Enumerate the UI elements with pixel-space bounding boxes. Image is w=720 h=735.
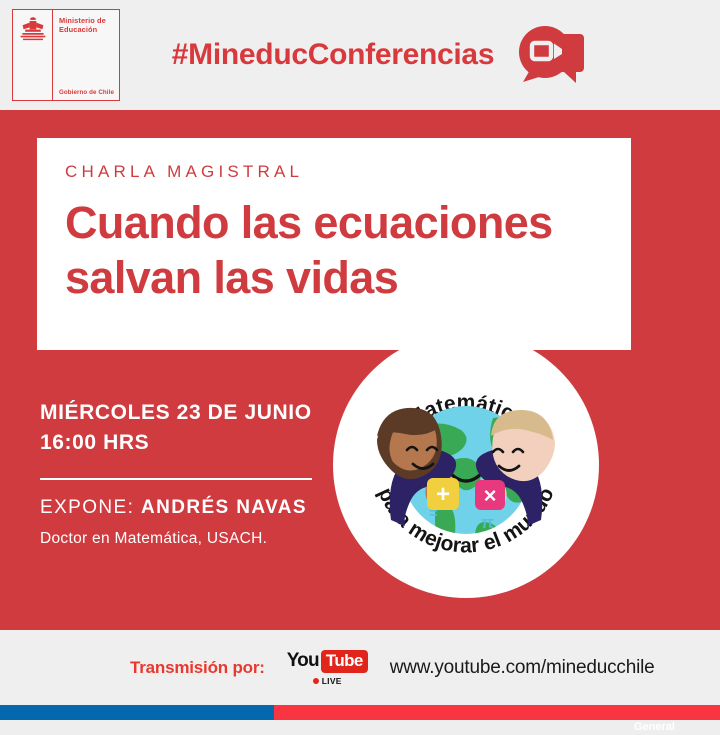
- stripe-red: [274, 705, 720, 720]
- svg-text:+: +: [436, 481, 450, 508]
- speaker-title: Doctor en Matemática, USACH.: [40, 530, 340, 548]
- hashtag-block: #MineducConferencias: [0, 0, 720, 110]
- svg-text:×: ×: [484, 483, 497, 508]
- deg-sub-line3: General: [634, 720, 710, 735]
- youtube-you-text: You: [287, 650, 319, 672]
- youtube-tube-text: Tube: [321, 650, 368, 673]
- stream-url[interactable]: www.youtube.com/mineducchile: [390, 657, 655, 679]
- flag-stripes: [0, 705, 720, 720]
- youtube-live-logo[interactable]: You Tube LIVE: [287, 650, 368, 686]
- divider: [40, 478, 312, 480]
- youtube-logo[interactable]: You Tube: [287, 650, 368, 673]
- kicker-label: CHARLA MAGISTRAL: [65, 162, 603, 182]
- badge-artwork: Matemática para mejorar el mundo ∑: [333, 332, 599, 598]
- stripe-blue: [0, 705, 274, 720]
- event-hashtag: #MineducConferencias: [172, 38, 494, 72]
- speaker-line: EXPONE: ANDRÉS NAVAS: [40, 497, 340, 519]
- live-label: LIVE: [322, 676, 342, 686]
- expone-label: EXPONE:: [40, 497, 134, 518]
- footer-bar: Transmisión por: You Tube LIVE www.youtu…: [0, 630, 720, 705]
- math-badge-illustration: Matemática para mejorar el mundo ∑: [333, 332, 599, 598]
- header-bar: Ministerio de Educación Gobierno de Chil…: [0, 0, 720, 110]
- video-chat-bubble-icon: [512, 18, 588, 92]
- svg-text:π: π: [481, 513, 494, 532]
- event-date: MIÉRCOLES 23 DE JUNIO: [40, 398, 340, 428]
- event-time: 16:00 HRS: [40, 428, 340, 458]
- talk-title-line2: salvan las vidas: [65, 251, 603, 306]
- talk-title-line1: Cuando las ecuaciones: [65, 196, 603, 251]
- event-details: MIÉRCOLES 23 DE JUNIO 16:00 HRS EXPONE: …: [40, 398, 340, 548]
- transmission-label: Transmisión por:: [130, 658, 265, 678]
- poster-body: CHARLA MAGISTRAL Cuando las ecuaciones s…: [0, 110, 720, 630]
- speaker-name: ANDRÉS NAVAS: [141, 497, 307, 518]
- title-card: CHARLA MAGISTRAL Cuando las ecuaciones s…: [37, 138, 631, 350]
- live-dot-icon: [313, 678, 319, 684]
- live-badge: LIVE: [313, 676, 342, 686]
